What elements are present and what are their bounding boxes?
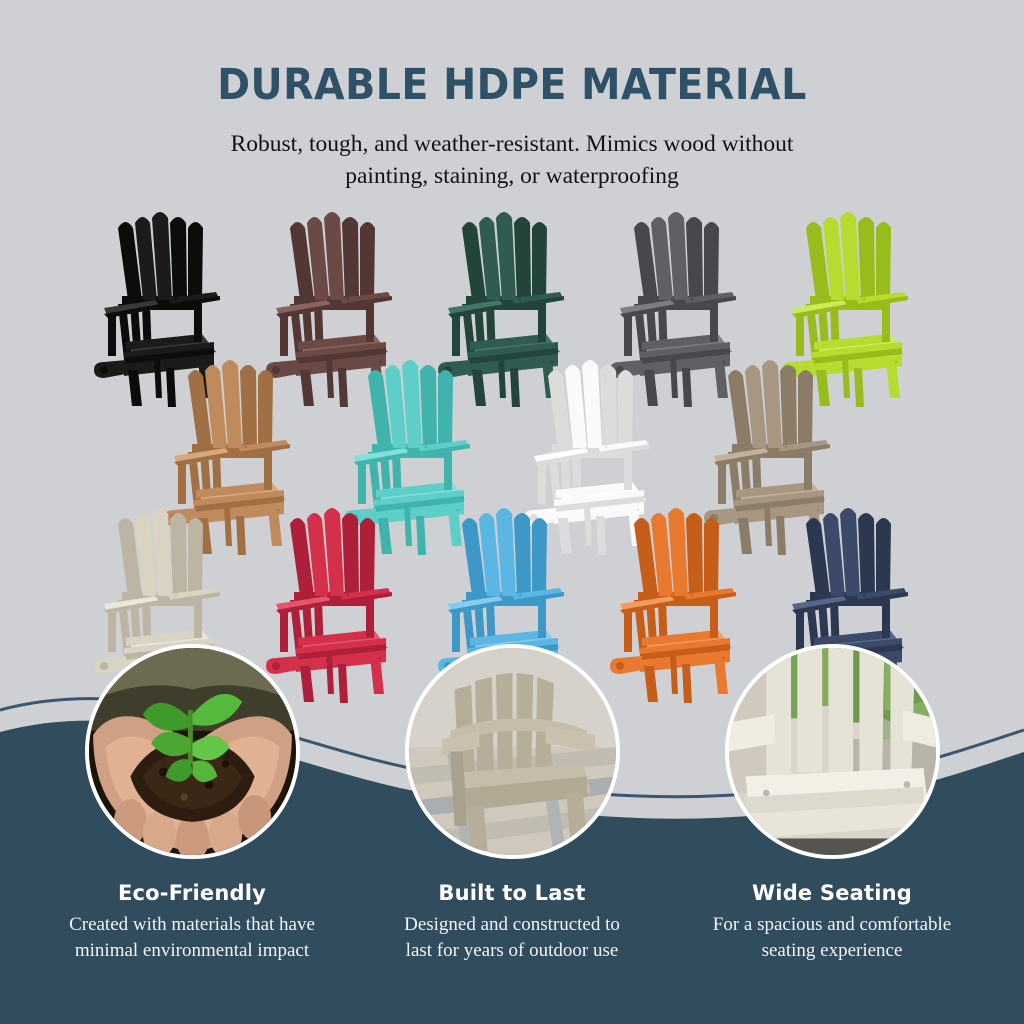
subtitle-line-2: painting, staining, or waterproofing bbox=[0, 160, 1024, 192]
feature-title: Built to Last bbox=[352, 881, 672, 905]
feature-description: Designed and constructed tolast for year… bbox=[352, 912, 672, 963]
feature-description: For a spacious and comfortableseating ex… bbox=[672, 912, 992, 963]
feature-1: Eco-FriendlyCreated with materials that … bbox=[32, 640, 352, 963]
feature-title: Wide Seating bbox=[672, 881, 992, 905]
feature-list: Eco-FriendlyCreated with materials that … bbox=[0, 640, 1024, 1024]
feature-desc-line-1: Created with materials that have bbox=[40, 912, 344, 938]
subtitle-line-1: Robust, tough, and weather-resistant. Mi… bbox=[0, 128, 1024, 160]
header: DURABLE HDPE MATERIAL Robust, tough, and… bbox=[0, 0, 1024, 193]
feature-description: Created with materials that haveminimal … bbox=[32, 912, 352, 963]
feature-desc-line-2: seating experience bbox=[680, 938, 984, 964]
cream-chair-wide-seat-closeup bbox=[725, 644, 940, 859]
feature-desc-line-1: For a spacious and comfortable bbox=[680, 912, 984, 938]
page-subtitle: Robust, tough, and weather-resistant. Mi… bbox=[0, 128, 1024, 193]
feature-3: Wide SeatingFor a spacious and comfortab… bbox=[672, 640, 992, 963]
hands-holding-soil-seedling bbox=[85, 644, 300, 859]
feature-2: Built to LastDesigned and constructed to… bbox=[352, 640, 672, 963]
feature-title: Eco-Friendly bbox=[32, 881, 352, 905]
beige-adirondack-chair-on-patio-rug bbox=[405, 644, 620, 859]
feature-desc-line-2: last for years of outdoor use bbox=[360, 938, 664, 964]
feature-desc-line-1: Designed and constructed to bbox=[360, 912, 664, 938]
page-title: DURABLE HDPE MATERIAL bbox=[41, 60, 983, 110]
feature-desc-line-2: minimal environmental impact bbox=[40, 938, 344, 964]
